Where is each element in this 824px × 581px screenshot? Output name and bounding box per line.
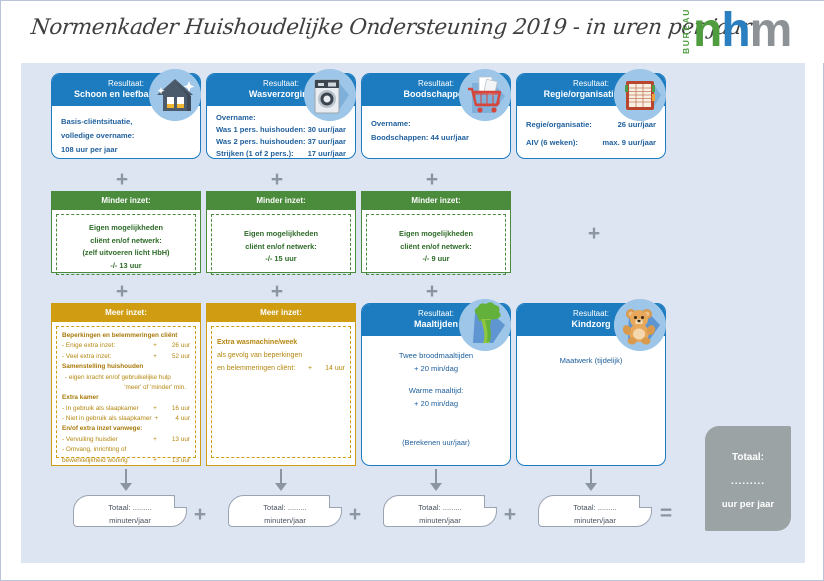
orange-header: Meer inzet:	[207, 304, 355, 322]
group-item: - In gebruik als slaapkamer + 16 uur	[62, 404, 190, 414]
total-unit: minuten/jaar	[74, 515, 186, 528]
infographic-page: Normenkader Huishoudelijke Ondersteuning…	[0, 0, 824, 581]
plus-operator: +	[267, 281, 287, 302]
plus-operator: +	[112, 169, 132, 190]
green-line: -/- 13 uur	[61, 260, 191, 273]
group-note: - eigen kracht en/of gebruikelijke hulp	[62, 373, 190, 383]
minder-inzet-box-2[interactable]: Minder inzet: Eigen mogelijkheden cliënt…	[206, 191, 356, 273]
orange-line: als gevolg van beperkingen	[217, 350, 345, 363]
page-header: Normenkader Huishoudelijke Ondersteuning…	[1, 1, 824, 63]
group-item: en belemmeringen cliënt: + 14 uur	[217, 363, 345, 376]
plus-operator: +	[190, 504, 210, 525]
green-line: cliënt en/of netwerk:	[371, 241, 501, 254]
shopping-cart-icon	[459, 69, 511, 121]
item-value	[160, 445, 190, 455]
plus-operator: +	[584, 223, 604, 244]
item-key: - In gebruik als slaapkamer	[62, 404, 150, 414]
item-value: 52 uur	[160, 352, 190, 362]
card-line: volledige overname:	[61, 129, 191, 143]
total-box-2[interactable]: Totaal: ......... minuten/jaar	[228, 495, 342, 527]
grand-total-value: .........	[705, 470, 791, 494]
down-arrow	[119, 469, 133, 491]
orange-body: Beperkingen en belemmeringen cliënt - En…	[56, 326, 196, 458]
item-sign: +	[150, 404, 160, 414]
item-key: - Omvang, inrichting of	[62, 445, 150, 455]
card-line: + 20 min/dag	[371, 363, 501, 376]
row-value: 37 uur/jaar	[308, 136, 346, 148]
total-box-1[interactable]: Totaal: ......... minuten/jaar	[73, 495, 187, 527]
group-item: - Vervuiling huisdier + 13 uur	[62, 435, 190, 445]
total-label: Totaal: .........	[384, 502, 496, 515]
card-line: Warme maaltijd:	[371, 385, 501, 398]
card-row: Was 2 pers. huishouden: 37 uur/jaar	[216, 136, 346, 148]
minder-inzet-box-1[interactable]: Minder inzet: Eigen mogelijkheden cliënt…	[51, 191, 201, 273]
item-key: en belemmeringen cliënt:	[217, 363, 305, 376]
row-key: AIV (6 weken):	[526, 134, 578, 152]
calendar-icon	[614, 69, 666, 121]
group-item: bewerkelijkheid woning + 13 uur	[62, 456, 190, 466]
green-line: cliënt en/of netwerk:	[61, 235, 191, 248]
group-item: - Veel extra inzet: + 52 uur	[62, 352, 190, 362]
card-line: Maatwerk (tijdelijk)	[526, 354, 656, 368]
green-line: -/- 9 uur	[371, 253, 501, 266]
item-value: 4 uur	[161, 414, 190, 424]
group-title: Beperkingen en belemmeringen cliënt	[62, 331, 190, 341]
item-sign: +	[150, 435, 160, 445]
down-arrow	[584, 469, 598, 491]
group-note: 'meer' of 'minder' min.	[62, 383, 190, 393]
card-row: Strijken (1 of 2 pers.): 17 uur/jaar	[216, 148, 346, 159]
green-body: Eigen mogelijkheden cliënt en/of netwerk…	[211, 214, 351, 275]
total-box-3[interactable]: Totaal: ......... minuten/jaar	[383, 495, 497, 527]
bureau-hhm-logo: BUREAU nhm	[679, 9, 801, 57]
meer-inzet-box-2[interactable]: Meer inzet: Extra wasmachine/week als ge…	[206, 303, 356, 466]
total-unit: minuten/jaar	[539, 515, 651, 528]
group-item: - Enige extra inzet: + 26 uur	[62, 341, 190, 351]
green-line: cliënt en/of netwerk:	[216, 241, 346, 254]
card-line: + 20 min/dag	[371, 398, 501, 411]
item-sign: +	[150, 341, 160, 351]
item-key: - Veel extra inzet:	[62, 352, 150, 362]
down-arrow	[429, 469, 443, 491]
item-key: - Vervuiling huisdier	[62, 435, 150, 445]
green-line: Eigen mogelijkheden	[61, 222, 191, 235]
plus-operator: +	[422, 169, 442, 190]
group-item: - Omvang, inrichting of	[62, 445, 190, 455]
group-item: - Niet in gebruik als slaapkamer + 4 uur	[62, 414, 190, 424]
logo-wordmark: nhm	[693, 7, 791, 55]
row-key: Strijken (1 of 2 pers.):	[216, 148, 294, 159]
card-line: Boodschappen: 44 uur/jaar	[371, 131, 501, 145]
broccoli-icon	[459, 299, 511, 351]
total-unit: minuten/jaar	[229, 515, 341, 528]
group-title: Extra kamer	[62, 393, 190, 403]
item-key: - Niet in gebruik als slaapkamer	[62, 414, 152, 424]
minder-inzet-box-3[interactable]: Minder inzet: Eigen mogelijkheden cliënt…	[361, 191, 511, 273]
house-icon	[149, 69, 201, 121]
item-value: 13 uur	[160, 456, 190, 466]
washing-machine-icon	[304, 69, 356, 121]
item-sign	[150, 445, 160, 455]
grand-total-unit: uur per jaar	[705, 494, 791, 517]
item-value: 26 uur	[160, 341, 190, 351]
equals-operator: =	[656, 503, 676, 524]
orange-line: Extra wasmachine/week	[217, 337, 345, 350]
row-key: Was 1 pers. huishouden:	[216, 124, 306, 136]
card-line: Twee broodmaaltijden	[371, 350, 501, 363]
card-row: AIV (6 weken): max. 9 uur/jaar	[526, 134, 656, 152]
plus-operator: +	[345, 504, 365, 525]
grand-total-box[interactable]: Totaal: ......... uur per jaar	[705, 426, 791, 531]
row-key: Was 2 pers. huishouden:	[216, 136, 306, 148]
plus-operator: +	[112, 281, 132, 302]
item-value: 13 uur	[160, 435, 190, 445]
green-header: Minder inzet:	[207, 192, 355, 210]
logo-letter-m: m	[750, 4, 792, 57]
green-line: Eigen mogelijkheden	[216, 228, 346, 241]
green-line: Eigen mogelijkheden	[371, 228, 501, 241]
logo-letter-h: h	[721, 4, 749, 57]
group-title: Samenstelling huishouden	[62, 362, 190, 372]
item-value: 14 uur	[315, 363, 345, 376]
orange-header: Meer inzet:	[52, 304, 200, 322]
row-value: 30 uur/jaar	[308, 124, 346, 136]
orange-body: Extra wasmachine/week als gevolg van bep…	[211, 326, 351, 458]
card-row: Was 1 pers. huishouden: 30 uur/jaar	[216, 124, 346, 136]
item-sign: +	[150, 352, 160, 362]
logo-bureau-text: BUREAU	[681, 12, 691, 54]
item-sign: +	[305, 363, 315, 376]
green-body: Eigen mogelijkheden cliënt en/of netwerk…	[366, 214, 506, 275]
green-line: -/- 15 uur	[216, 253, 346, 266]
group-title: En/of extra inzet vanwege:	[62, 424, 190, 434]
card-footer: (Berekenen uur/jaar)	[362, 438, 510, 447]
card-line: 108 uur per jaar	[61, 143, 191, 157]
page-title: Normenkader Huishoudelijke Ondersteuning…	[30, 15, 753, 40]
total-label: Totaal: .........	[229, 502, 341, 515]
item-sign: +	[150, 456, 160, 466]
down-arrow	[274, 469, 288, 491]
grand-total-label: Totaal:	[705, 446, 791, 470]
total-label: Totaal: .........	[539, 502, 651, 515]
meer-inzet-box-1[interactable]: Meer inzet: Beperkingen en belemmeringen…	[51, 303, 201, 466]
green-line: (zelf uitvoeren licht HbH)	[61, 247, 191, 260]
row-key: Regie/organisatie:	[526, 116, 592, 134]
item-value: 16 uur	[160, 404, 190, 414]
row-value: 17 uur/jaar	[308, 148, 346, 159]
total-box-4[interactable]: Totaal: ......... minuten/jaar	[538, 495, 652, 527]
item-key: bewerkelijkheid woning	[62, 456, 150, 466]
green-header: Minder inzet:	[362, 192, 510, 210]
item-key: - Enige extra inzet:	[62, 341, 150, 351]
total-unit: minuten/jaar	[384, 515, 496, 528]
green-body: Eigen mogelijkheden cliënt en/of netwerk…	[56, 214, 196, 275]
item-sign: +	[152, 414, 162, 424]
logo-letter-n: n	[693, 4, 721, 57]
plus-operator: +	[267, 169, 287, 190]
total-label: Totaal: .........	[74, 502, 186, 515]
green-header: Minder inzet:	[52, 192, 200, 210]
teddy-bear-icon	[614, 299, 666, 351]
row-value: max. 9 uur/jaar	[602, 134, 656, 152]
plus-operator: +	[500, 504, 520, 525]
plus-operator: +	[422, 281, 442, 302]
